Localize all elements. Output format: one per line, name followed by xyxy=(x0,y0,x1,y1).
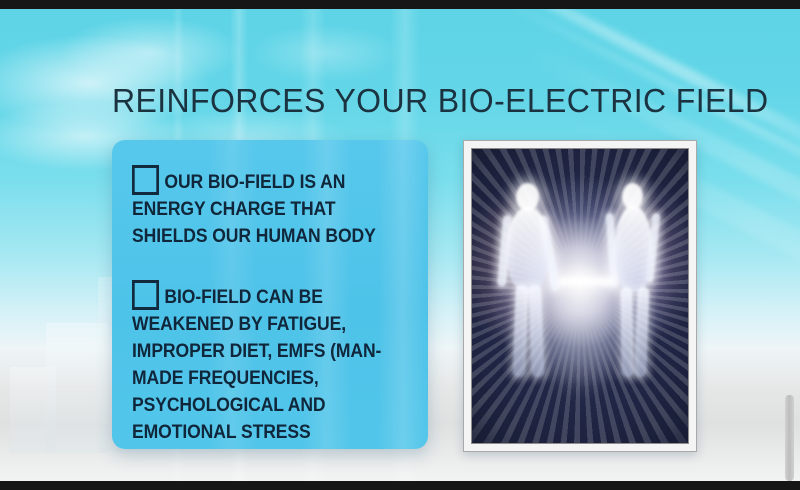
square-outline-icon xyxy=(132,165,159,195)
sun-ray xyxy=(403,9,800,142)
joined-hands xyxy=(558,277,614,286)
bullet-text: OUR BIO-FIELD IS AN ENERGY CHARGE THAT S… xyxy=(132,171,376,247)
page-title: REINFORCES YOUR BIO-ELECTRIC FIELD xyxy=(112,82,733,120)
figure-leg xyxy=(620,287,634,377)
player-top-bar xyxy=(0,0,800,9)
aura-illustration xyxy=(471,148,689,444)
cloud-shape xyxy=(250,25,400,81)
aura-glow xyxy=(472,149,688,443)
scrollbar-thumb[interactable] xyxy=(785,395,794,481)
bullet-item: OUR BIO-FIELD IS AN ENERGY CHARGE THAT S… xyxy=(132,165,411,250)
skyline-building xyxy=(46,323,108,453)
bullet-text: BIO-FIELD CAN BE WEAKENED BY FATIGUE, IM… xyxy=(132,286,381,443)
bullet-item: BIO-FIELD CAN BE WEAKENED BY FATIGUE, IM… xyxy=(132,280,411,446)
skyline-building xyxy=(10,367,56,453)
content-panel: OUR BIO-FIELD IS AN ENERGY CHARGE THAT S… xyxy=(112,140,428,449)
player-bottom-bar xyxy=(0,481,800,490)
scrollbar[interactable] xyxy=(785,395,794,481)
presentation-slide: REINFORCES YOUR BIO-ELECTRIC FIELD OUR B… xyxy=(0,9,800,481)
aura-image-frame xyxy=(463,140,697,452)
cloud-shape xyxy=(60,17,240,87)
square-outline-icon xyxy=(132,280,159,310)
figure-torso xyxy=(615,206,652,292)
figure-torso xyxy=(507,207,549,291)
video-player-stage: REINFORCES YOUR BIO-ELECTRIC FIELD OUR B… xyxy=(0,0,800,490)
